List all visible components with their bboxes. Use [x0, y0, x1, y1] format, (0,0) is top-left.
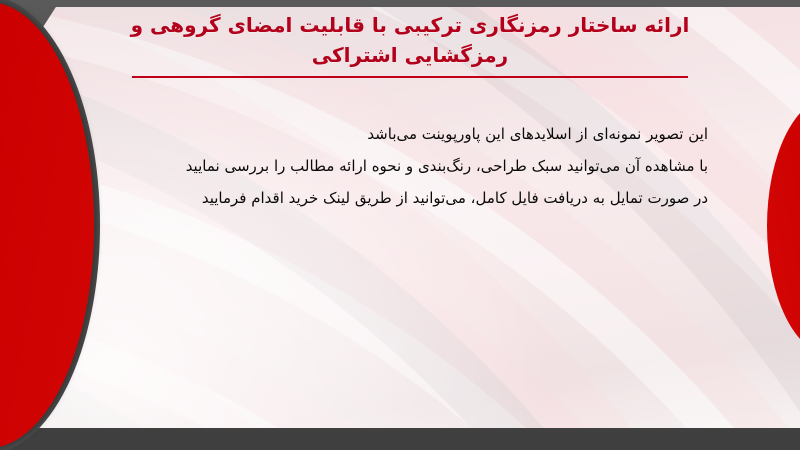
body-line-3: در صورت تمایل به دریافت فایل کامل، می‌تو… [98, 182, 708, 214]
body-line-2: با مشاهده آن می‌توانید سبک طراحی، رنگ‌بن… [98, 150, 708, 182]
slide-title-line-1: ارائه ساختار رمزنگاری ترکیبی با قابلیت ا… [110, 10, 710, 40]
presentation-slide: ارائه ساختار رمزنگاری ترکیبی با قابلیت ا… [0, 0, 800, 450]
body-line-1: این تصویر نمونه‌ای از اسلایدهای این پاور… [98, 118, 708, 150]
slide-body: این تصویر نمونه‌ای از اسلایدهای این پاور… [98, 118, 708, 214]
title-underline [132, 76, 688, 78]
slide-title: ارائه ساختار رمزنگاری ترکیبی با قابلیت ا… [110, 10, 710, 78]
slide-title-line-2: رمزگشایی اشتراکی [110, 40, 710, 70]
